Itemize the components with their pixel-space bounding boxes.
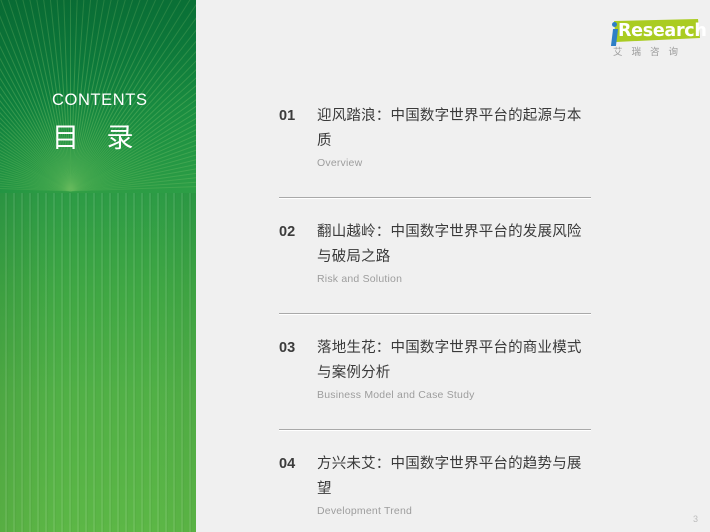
logo-chinese-name: 艾瑞咨询 <box>613 44 687 58</box>
table-of-contents: 01 迎风踏浪：中国数字世界平台的起源与本质 Overview 02 翻山越岭：… <box>279 104 591 519</box>
toc-entry-03[interactable]: 03 落地生花：中国数字世界平台的商业模式与案例分析 Business Mode… <box>279 336 591 403</box>
contents-title-chinese: 目 录 <box>52 116 144 155</box>
toc-number: 02 <box>279 220 317 245</box>
toc-number: 01 <box>279 104 317 129</box>
slide-root: CONTENTS 目 录 Research 艾瑞咨询 01 迎风踏浪：中国数字世… <box>0 0 710 532</box>
toc-title-chinese: 迎风踏浪：中国数字世界平台的起源与本质 <box>317 104 591 154</box>
toc-spacer <box>279 199 591 220</box>
toc-text-group: 方兴未艾：中国数字世界平台的趋势与展望 Development Trend <box>317 452 591 519</box>
toc-entry-01[interactable]: 01 迎风踏浪：中国数字世界平台的起源与本质 Overview <box>279 104 591 171</box>
toc-title-english: Business Model and Case Study <box>317 387 591 403</box>
toc-text-group: 落地生花：中国数字世界平台的商业模式与案例分析 Business Model a… <box>317 336 591 403</box>
toc-spacer <box>279 431 591 452</box>
logo-wordmark: Research <box>618 21 707 41</box>
toc-title-chinese: 落地生花：中国数字世界平台的商业模式与案例分析 <box>317 336 591 386</box>
toc-title-chinese: 翻山越岭：中国数字世界平台的发展风险与破局之路 <box>317 220 591 270</box>
logo-i-dot-icon <box>612 22 617 27</box>
left-green-panel: CONTENTS 目 录 <box>0 0 196 532</box>
logo-letter-i-icon <box>608 22 613 42</box>
logo-mark: Research <box>604 18 700 44</box>
panel-shade-overlay <box>0 193 196 532</box>
toc-spacer <box>279 315 591 336</box>
toc-number: 03 <box>279 336 317 361</box>
panel-stripe-pattern <box>0 193 196 532</box>
toc-entry-02[interactable]: 02 翻山越岭：中国数字世界平台的发展风险与破局之路 Risk and Solu… <box>279 220 591 287</box>
toc-title-english: Risk and Solution <box>317 271 591 287</box>
toc-number: 04 <box>279 452 317 477</box>
contents-label: CONTENTS <box>52 91 148 110</box>
toc-spacer <box>279 171 591 197</box>
iresearch-logo: Research 艾瑞咨询 <box>604 18 700 60</box>
toc-title-chinese: 方兴未艾：中国数字世界平台的趋势与展望 <box>317 452 591 502</box>
toc-spacer <box>279 287 591 313</box>
page-number: 3 <box>693 514 698 524</box>
toc-title-english: Development Trend <box>317 503 591 519</box>
toc-title-english: Overview <box>317 155 591 171</box>
toc-text-group: 翻山越岭：中国数字世界平台的发展风险与破局之路 Risk and Solutio… <box>317 220 591 287</box>
toc-spacer <box>279 403 591 429</box>
toc-entry-04[interactable]: 04 方兴未艾：中国数字世界平台的趋势与展望 Development Trend <box>279 452 591 519</box>
toc-text-group: 迎风踏浪：中国数字世界平台的起源与本质 Overview <box>317 104 591 171</box>
